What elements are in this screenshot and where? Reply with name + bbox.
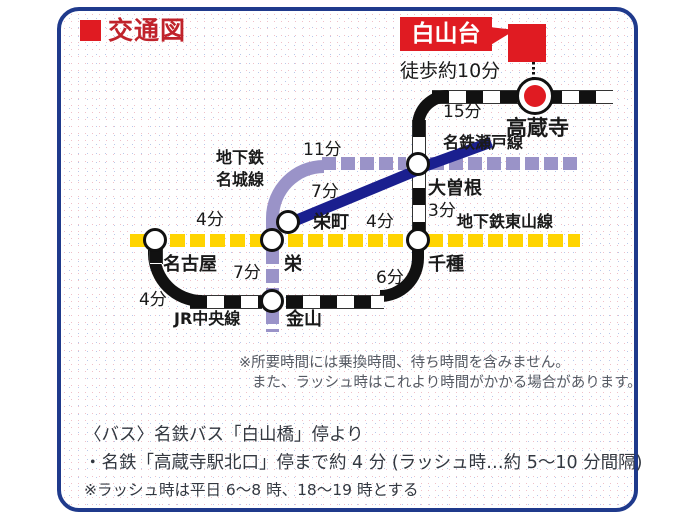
station-label-chikusa: 千種	[428, 256, 464, 274]
station-marker-ozone[interactable]	[406, 152, 430, 176]
higashiyama-line-right-segment	[428, 234, 580, 247]
note-line-2: また、ラッシュ時はこれより時間がかかる場合があります。	[252, 372, 642, 394]
page-title-text: 交通図	[108, 18, 186, 43]
meijo-line-below-kanayama-segment	[266, 310, 279, 332]
destination-callout-box: 白山台	[400, 17, 492, 51]
station-marker-kozoji[interactable]	[516, 77, 554, 115]
bus-info-block: 〈バス〉名鉄バス「白山橋」停より ・名鉄「高蔵寺駅北口」停まで約 4 分 (ラッ…	[84, 421, 643, 503]
destination-marker-square-icon	[508, 24, 546, 62]
line-label-higashiyama: 地下鉄東山線	[457, 214, 553, 230]
station-label-ozone: 大曽根	[428, 180, 482, 198]
line-label-meijo-part1: 地下鉄	[216, 150, 264, 166]
time-label-nagoya-kanayama: 4分	[139, 292, 167, 309]
jr-line-top-segment	[545, 90, 613, 104]
station-marker-chikusa[interactable]	[406, 228, 430, 252]
destination-callout-label: 白山台	[412, 23, 481, 46]
time-label-nagoya-sakae: 4分	[196, 212, 224, 229]
time-label-sakae-chikusa: 4分	[366, 214, 394, 231]
higashiyama-line-nagoya-sakae-segment	[170, 234, 268, 247]
line-label-jr-chuo: JR中央線	[174, 311, 240, 327]
station-label-kanayama: 金山	[286, 311, 322, 329]
higashiyama-line-sakae-chikusa-segment	[288, 234, 410, 247]
line-label-meitetsu-seto: 名鉄瀬戸線	[443, 135, 523, 151]
time-label-ozone-sakaemachi-seto: 7分	[311, 184, 339, 201]
transit-map-diagram: 交通図 高蔵寺 大曽根 栄町 栄 名古屋 千種 金山 地下鉄	[0, 0, 700, 525]
walk-time-label: 徒歩約10分	[400, 62, 500, 81]
page-title: 交通図	[80, 18, 186, 43]
time-label-ozone-sakaemachi-meijo: 11分	[303, 142, 342, 159]
station-marker-nagoya[interactable]	[143, 228, 167, 252]
title-bullet-square-icon	[80, 20, 101, 41]
station-label-nagoya: 名古屋	[163, 256, 217, 274]
line-label-meijo-part2: 名城線	[216, 172, 264, 188]
time-label-ozone-chikusa: 3分	[428, 203, 456, 220]
station-label-sakaemachi: 栄町	[313, 214, 349, 232]
time-label-kozoji-ozone: 15分	[443, 104, 482, 121]
jr-line-bottom-segment-right	[286, 295, 384, 309]
bus-info-line-3: ※ラッシュ時は平日 6〜8 時、18〜19 時とする	[84, 478, 643, 503]
bus-info-line-1: 〈バス〉名鉄バス「白山橋」停より	[84, 421, 643, 449]
station-marker-sakae[interactable]	[260, 228, 284, 252]
meijo-line-sakae-kanayama-segment	[266, 250, 279, 292]
station-marker-kanayama[interactable]	[260, 289, 284, 313]
jr-line-ozone-chikusa-segment	[412, 120, 426, 244]
station-label-sakae: 栄	[284, 256, 302, 274]
time-label-sakae-kanayama: 7分	[233, 265, 261, 282]
bus-info-line-2: ・名鉄「高蔵寺駅北口」停まで約 4 分 (ラッシュ時…約 5〜10 分間隔)	[84, 449, 643, 477]
station-core-kozoji	[524, 85, 546, 107]
time-label-kanayama-chikusa: 6分	[376, 270, 404, 287]
